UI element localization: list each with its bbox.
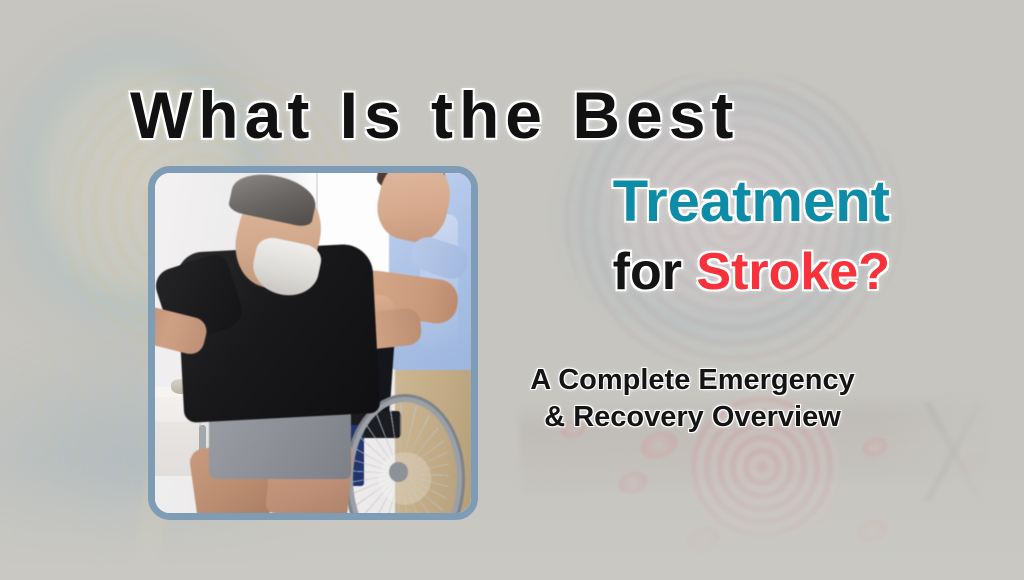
red-blood-cell-icon	[958, 448, 993, 476]
headline-line-2: Treatment	[430, 172, 890, 233]
red-blood-cell-icon	[683, 523, 723, 556]
subtitle-line-1: A Complete Emergency	[495, 362, 890, 399]
headline-line-1: What Is the Best	[130, 82, 890, 148]
stroke-treatment-banner: What Is the Best Treatment for Stroke? A…	[0, 0, 1024, 580]
headline-line-2-wrap: Treatment	[430, 172, 890, 233]
red-blood-cell-icon	[615, 468, 650, 497]
headline-word-for: for	[613, 243, 697, 301]
red-blood-cell-icon	[853, 516, 890, 547]
subtitle-line-2: & Recovery Overview	[495, 399, 890, 436]
hero-photo	[155, 173, 471, 513]
red-blood-cell-icon	[860, 434, 890, 459]
headline-word-stroke: Stroke?	[696, 243, 890, 301]
background-fade-right	[874, 0, 1024, 580]
hero-photo-frame	[148, 166, 478, 520]
headline-line-3: for Stroke?	[430, 245, 890, 300]
headline-line-3-wrap: for Stroke?	[430, 245, 890, 300]
headline-block: What Is the Best	[130, 82, 890, 148]
wheelchair-hub	[389, 462, 408, 482]
subtitle-block: A Complete Emergency & Recovery Overview	[495, 362, 890, 436]
